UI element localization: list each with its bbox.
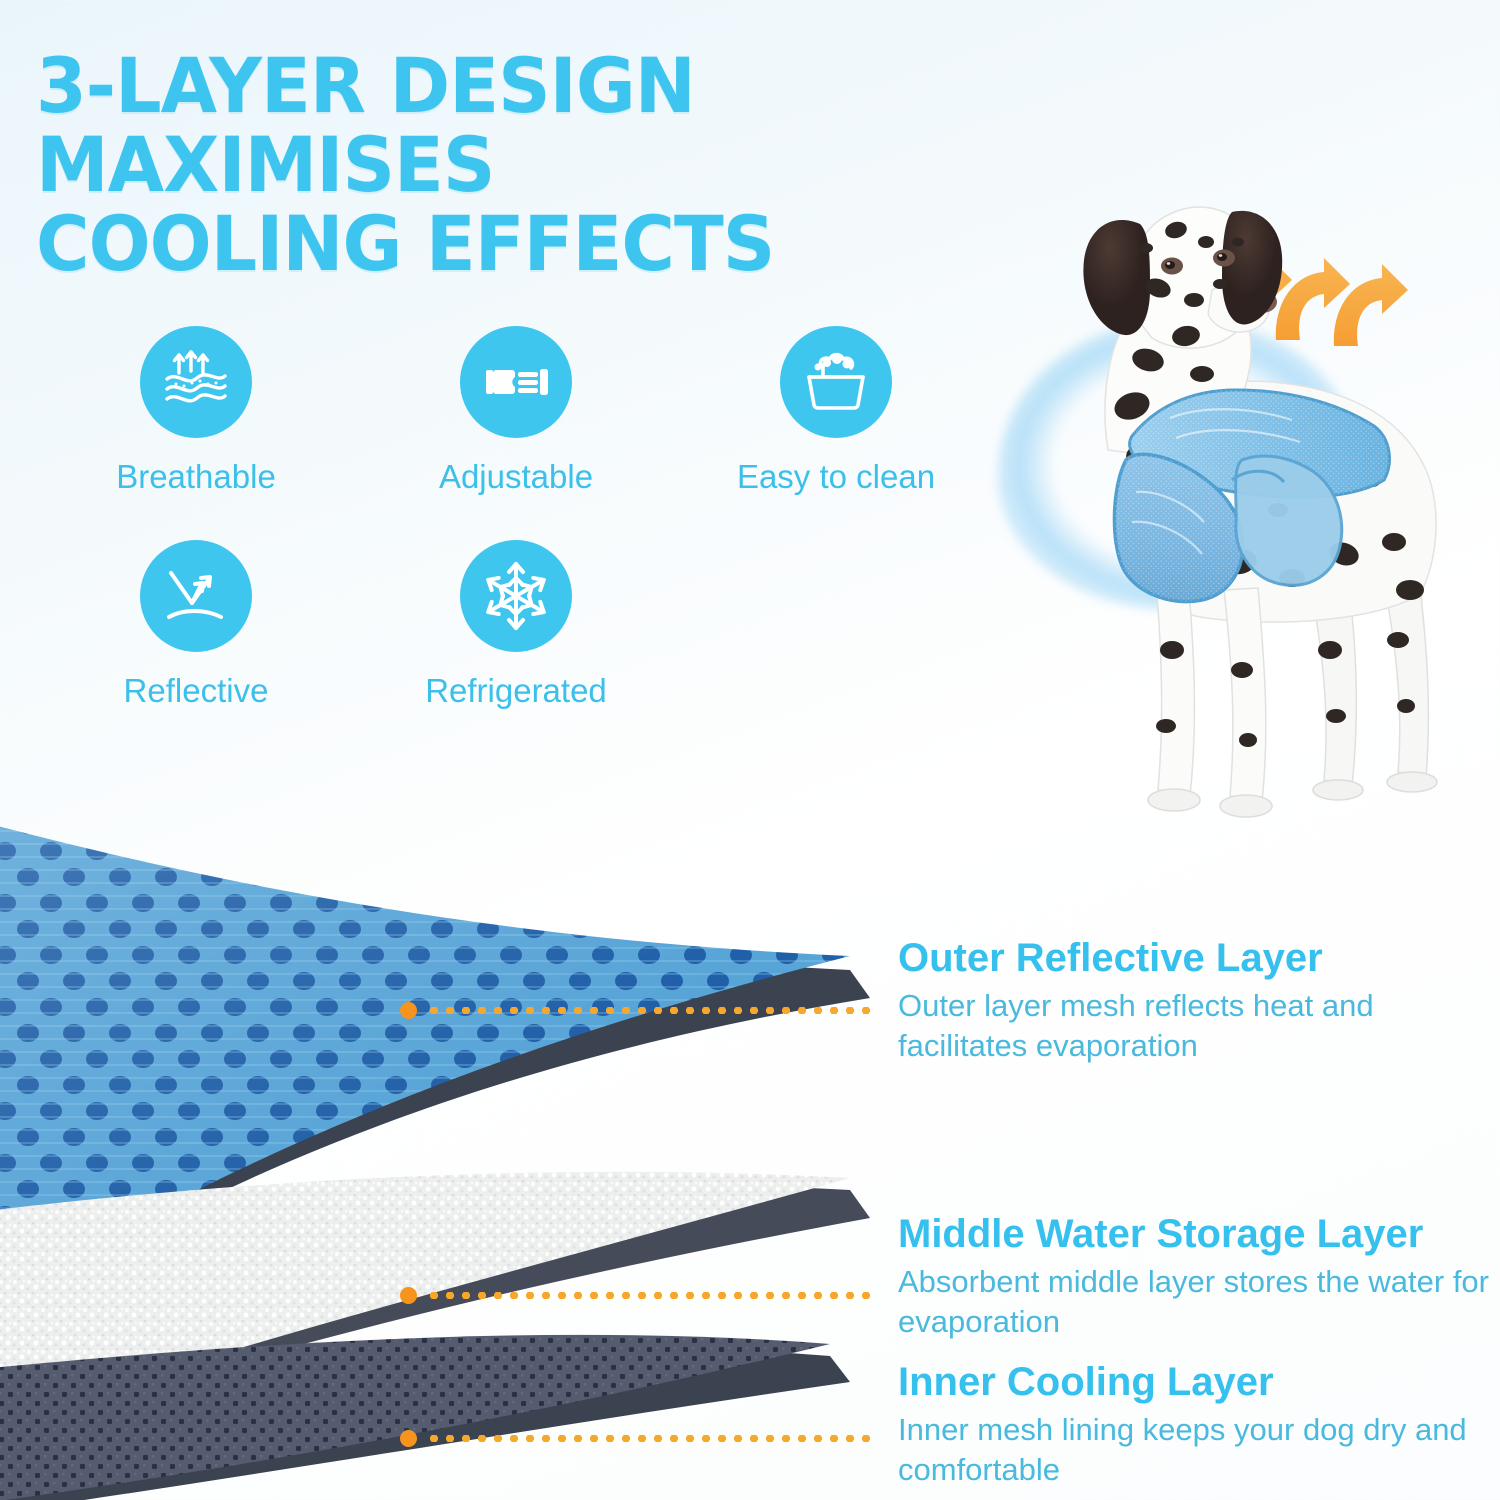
dog-ear-left xyxy=(1083,220,1150,335)
three-layer-fabric-diagram xyxy=(0,760,870,1500)
callout-description: Outer layer mesh reflects heat and facil… xyxy=(898,986,1500,1065)
callout-description: Absorbent middle layer stores the water … xyxy=(898,1262,1500,1341)
feature-label: Easy to clean xyxy=(737,458,935,496)
feature-label: Refrigerated xyxy=(425,672,607,710)
callout-dot xyxy=(400,1002,417,1019)
callout-description: Inner mesh lining keeps your dog dry and… xyxy=(898,1410,1500,1489)
feature-adjustable: Adjustable xyxy=(356,326,676,496)
callout-heading: Outer Reflective Layer xyxy=(898,936,1500,980)
breathable-fabric-icon xyxy=(140,326,252,438)
buckle-icon xyxy=(460,326,572,438)
feature-label: Adjustable xyxy=(439,458,593,496)
feature-label: Breathable xyxy=(116,458,276,496)
wash-basin-icon xyxy=(780,326,892,438)
dalmatian-dog-illustration xyxy=(980,150,1500,890)
callout-middle-water-storage-layer: Middle Water Storage Layer Absorbent mid… xyxy=(898,1212,1500,1341)
feature-breathable: Breathable xyxy=(36,326,356,496)
snowflake-icon xyxy=(460,540,572,652)
product-photo-dog-wearing-vest xyxy=(980,150,1500,890)
feature-spacer xyxy=(676,540,996,710)
feature-list: Breathable Adjustable xyxy=(36,326,996,710)
callout-dashes xyxy=(426,1007,870,1014)
reflect-arrows-icon xyxy=(140,540,252,652)
callout-dashes xyxy=(426,1292,870,1299)
feature-easy-to-clean: Easy to clean xyxy=(676,326,996,496)
callout-heading: Inner Cooling Layer xyxy=(898,1360,1500,1404)
feature-refrigerated: Refrigerated xyxy=(356,540,676,710)
feature-row-2: Reflective xyxy=(36,540,996,710)
feature-row-1: Breathable Adjustable xyxy=(36,326,996,496)
callout-heading: Middle Water Storage Layer xyxy=(898,1212,1500,1256)
feature-reflective: Reflective xyxy=(36,540,356,710)
callout-dot xyxy=(400,1287,417,1304)
callout-dot xyxy=(400,1430,417,1447)
callout-outer-reflective-layer: Outer Reflective Layer Outer layer mesh … xyxy=(898,936,1500,1065)
callout-connector-inner xyxy=(400,1428,870,1448)
feature-label: Reflective xyxy=(124,672,269,710)
callout-connector-middle xyxy=(400,1285,870,1305)
callout-connector-outer xyxy=(400,1000,870,1020)
callout-dashes xyxy=(426,1435,870,1442)
inner-cooling-layer-swatch xyxy=(0,1335,850,1500)
callout-inner-cooling-layer: Inner Cooling Layer Inner mesh lining ke… xyxy=(898,1360,1500,1489)
page-title-line-1: 3-LAYER DESIGN MAXIMISES xyxy=(36,41,695,209)
